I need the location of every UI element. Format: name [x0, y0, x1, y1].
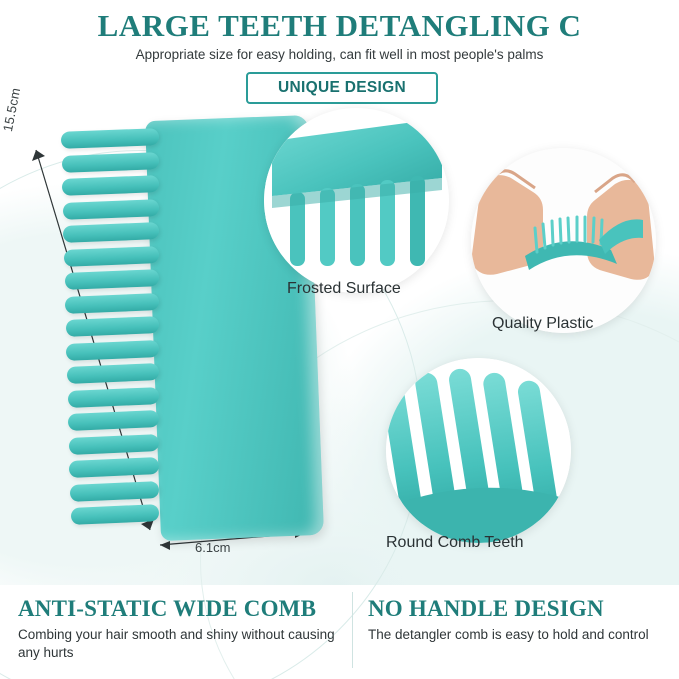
comb-tooth [67, 363, 160, 384]
comb-tooth [68, 410, 159, 431]
footer-title-2: NO HANDLE DESIGN [368, 596, 604, 622]
page-title: LARGE TEETH DETANGLING C [0, 8, 679, 44]
footer-divider [352, 592, 353, 668]
dimension-width-label: 6.1cm [195, 540, 230, 555]
product-infographic: LARGE TEETH DETANGLING C Appropriate siz… [0, 0, 679, 679]
comb-tooth [64, 246, 160, 267]
comb-tooth [65, 316, 159, 337]
comb-tooth [64, 269, 159, 290]
frosted-surface-image [264, 108, 449, 293]
comb-tooth [68, 434, 159, 455]
comb-tooth [62, 175, 159, 196]
callout-label-round-comb-teeth: Round Comb Teeth [386, 534, 596, 552]
page-subtitle: Appropriate size for easy holding, can f… [0, 47, 679, 62]
callout-frosted-surface [264, 108, 449, 293]
footer-body-1: Combing your hair smooth and shiny witho… [18, 626, 348, 662]
callout-label-quality-plastic: Quality Plastic [492, 315, 672, 333]
comb-tooth [65, 293, 159, 314]
footer-body-2: The detangler comb is easy to hold and c… [368, 626, 668, 644]
comb-tooth [63, 222, 159, 243]
unique-design-badge: UNIQUE DESIGN [246, 72, 438, 104]
comb-tooth [61, 152, 159, 173]
comb-tooth [70, 481, 160, 502]
callout-label-frosted-surface: Frosted Surface [287, 280, 487, 298]
quality-plastic-image [471, 148, 656, 333]
comb-tooth [67, 387, 159, 408]
round-comb-teeth-image [386, 358, 571, 543]
footer-title-1: ANTI-STATIC WIDE COMB [18, 596, 316, 622]
comb-tooth [69, 457, 159, 478]
badge-label: UNIQUE DESIGN [278, 79, 406, 97]
callout-quality-plastic [471, 148, 656, 333]
comb-tooth [70, 504, 159, 525]
comb-tooth [66, 340, 159, 361]
comb-tooth [61, 128, 160, 149]
comb-tooth [62, 199, 159, 220]
callout-round-comb-teeth [386, 358, 571, 543]
